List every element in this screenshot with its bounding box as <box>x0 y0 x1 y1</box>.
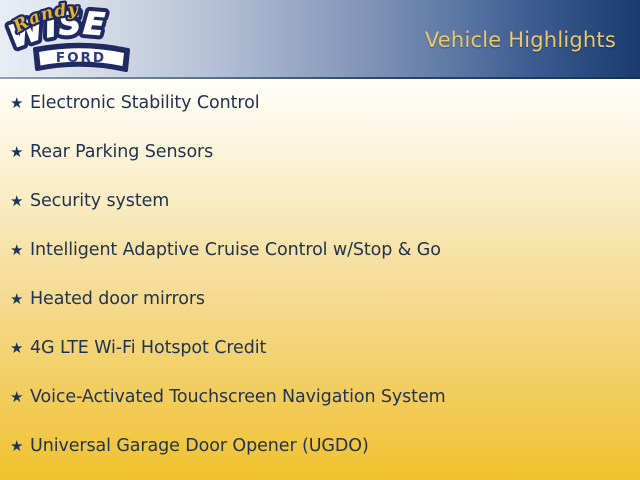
dealer-logo[interactable]: WISE WISE Randy Randy <box>2 0 138 76</box>
vehicle-highlights-page: WISE WISE Randy Randy <box>0 0 640 480</box>
highlight-label: Universal Garage Door Opener (UGDO) <box>30 422 369 471</box>
list-item: ★Universal Garage Door Opener (UGDO) <box>0 422 640 471</box>
highlight-label: Voice-Activated Touchscreen Navigation S… <box>30 373 446 422</box>
list-item: ★Rear Parking Sensors <box>0 128 640 177</box>
list-item: ★4G LTE Wi-Fi Hotspot Credit <box>0 324 640 373</box>
star-bullet-icon: ★ <box>10 226 30 275</box>
list-item: ★Intelligent Adaptive Cruise Control w/S… <box>0 226 640 275</box>
logo-ford-banner: FORD <box>35 45 128 70</box>
star-bullet-icon: ★ <box>10 128 30 177</box>
highlight-label: Electronic Stability Control <box>30 79 259 128</box>
highlight-label: Heated door mirrors <box>30 275 205 324</box>
list-item: ★Voice-Activated Touchscreen Navigation … <box>0 373 640 422</box>
list-item: ★Security system <box>0 177 640 226</box>
highlight-label: 4G LTE Wi-Fi Hotspot Credit <box>30 324 266 373</box>
star-bullet-icon: ★ <box>10 324 30 373</box>
star-bullet-icon: ★ <box>10 177 30 226</box>
page-title: Vehicle Highlights <box>425 28 616 52</box>
highlight-label: Security system <box>30 177 169 226</box>
star-bullet-icon: ★ <box>10 79 30 128</box>
highlight-label: Rear Parking Sensors <box>30 128 213 177</box>
star-bullet-icon: ★ <box>10 275 30 324</box>
highlight-label: Intelligent Adaptive Cruise Control w/St… <box>30 226 441 275</box>
star-bullet-icon: ★ <box>10 422 30 471</box>
page-header: WISE WISE Randy Randy <box>0 0 640 79</box>
list-item: ★Heated door mirrors <box>0 275 640 324</box>
star-bullet-icon: ★ <box>10 373 30 422</box>
list-item: ★Electronic Stability Control <box>0 79 640 128</box>
svg-text:FORD: FORD <box>56 50 106 66</box>
dealer-logo-graphic: WISE WISE Randy Randy <box>2 0 138 76</box>
vehicle-highlights-list: ★Electronic Stability Control★Rear Parki… <box>0 79 640 471</box>
highlights-panel: ★Electronic Stability Control★Rear Parki… <box>0 79 640 480</box>
